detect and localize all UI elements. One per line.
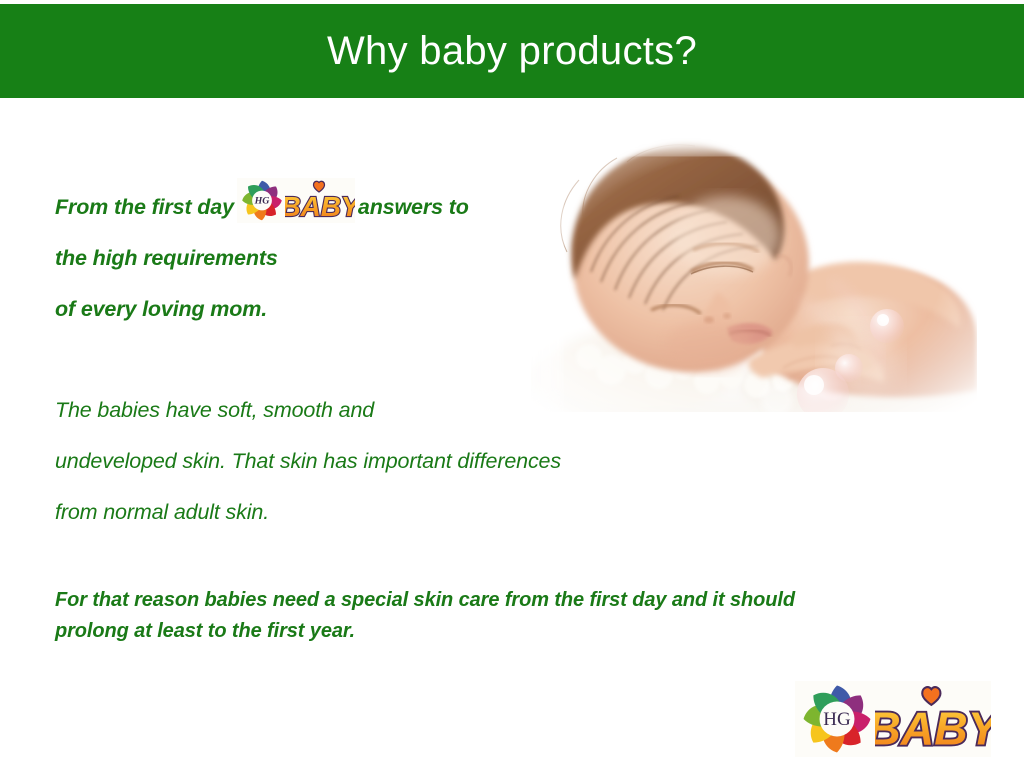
paragraph-conclusion-line-2: prolong at least to the first year. [55,616,935,647]
paragraph-intro: From the first day [55,178,575,335]
hg-baby-logo-inline: HG [237,178,355,223]
paragraph-conclusion-line-1: For that reason babies need a special sk… [55,585,935,616]
paragraph-intro-text-before-logo: From the first day [55,195,234,219]
hg-pinwheel-icon: HG [795,681,879,762]
baby-wordmark-text: BABY [285,191,355,222]
baby-wordmark: BABY [875,683,991,755]
page-title: Why baby products? [0,4,1024,98]
paragraph-skin-line-3: from normal adult skin. [55,487,705,538]
hg-baby-logo: HG BABY [795,681,991,757]
baby-wordmark-inline: BABY [285,179,355,222]
paragraph-skin-line-2: undeveloped skin. That skin has importan… [55,436,705,487]
paragraph-skin-description: The babies have soft, smooth and undevel… [55,385,705,538]
paragraph-skin-line-1: The babies have soft, smooth and [55,385,705,436]
paragraph-conclusion: For that reason babies need a special sk… [55,585,935,647]
hg-mark-text: HG [823,709,851,730]
paragraph-intro-line-1: From the first day [55,178,575,233]
paragraph-intro-line-3: of every loving mom. [55,284,575,335]
hg-pinwheel-icon: HG [237,178,287,242]
baby-heart-icon [313,181,324,192]
hg-baby-logo: HG [237,178,355,223]
hg-mark-text: HG [254,196,271,207]
sleeping-newborn-baby-photo [531,132,977,412]
title-band: Why baby products? [0,4,1024,98]
slide-canvas: Why baby products? [0,0,1024,769]
paragraph-intro-text-after-logo: answers to [358,195,469,219]
paragraph-intro-line-2: the high requirements [55,233,575,284]
baby-wordmark-text: BABY [875,703,991,755]
